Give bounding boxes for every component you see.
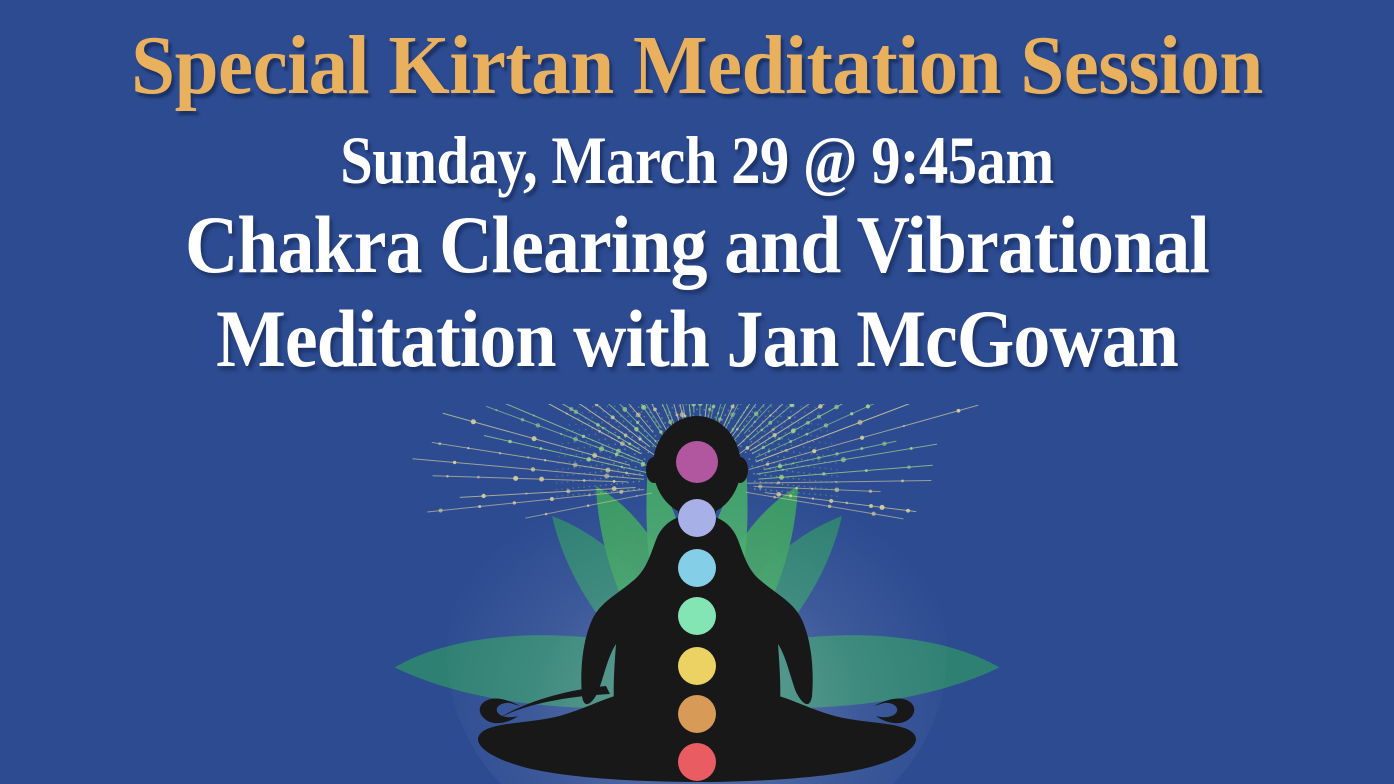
halo-dot: [804, 486, 806, 488]
halo-dot: [578, 493, 580, 495]
light-particle: [539, 447, 542, 450]
halo-dot: [754, 406, 756, 408]
halo-dot: [794, 427, 796, 429]
halo-dot: [758, 441, 760, 443]
light-particle: [822, 472, 825, 475]
halo-dot: [773, 462, 775, 464]
light-particle: [481, 494, 485, 498]
halo-dot: [760, 481, 762, 483]
light-particle: [569, 407, 573, 411]
light-ray: [764, 441, 897, 470]
halo-dot: [765, 442, 767, 444]
halo-dot: [751, 465, 753, 467]
light-particle: [592, 453, 597, 458]
halo-dot: [820, 430, 822, 432]
halo-dot: [600, 485, 602, 487]
halo-dot: [567, 494, 569, 496]
halo-dot: [600, 478, 602, 480]
halo-dot: [820, 494, 822, 496]
halo-dot: [562, 495, 564, 497]
sacral-chakra: [678, 695, 716, 733]
halo-dot: [580, 460, 582, 462]
halo-dot: [746, 421, 748, 423]
halo-dot: [825, 468, 827, 470]
halo-dot: [566, 448, 568, 450]
light-particle: [573, 463, 578, 468]
halo-dot: [769, 468, 771, 470]
halo-dot: [703, 409, 705, 411]
halo-dot: [775, 449, 777, 451]
halo-dot: [614, 432, 616, 434]
halo-dot: [771, 406, 773, 408]
light-particle: [439, 509, 443, 513]
halo-dot: [594, 492, 596, 494]
halo-dot: [799, 452, 801, 454]
halo-dot: [578, 473, 580, 475]
light-particle: [758, 485, 762, 489]
halo-dot: [753, 436, 755, 438]
halo-dot: [796, 464, 798, 466]
light-ray: [756, 404, 963, 462]
halo-dot: [646, 421, 648, 423]
light-particle: [768, 450, 771, 453]
light-particle: [624, 434, 628, 438]
halo-dot: [605, 416, 607, 418]
halo-dot: [567, 481, 569, 483]
halo-dot: [793, 451, 795, 453]
halo-dot: [604, 438, 606, 440]
light-ray: [752, 404, 880, 454]
halo-dot: [578, 407, 580, 409]
root-chakra: [678, 743, 716, 781]
halo-dot: [749, 430, 751, 432]
halo-dot: [825, 474, 827, 476]
light-particle: [760, 428, 763, 431]
halo-dot: [765, 482, 767, 484]
light-particle: [676, 414, 679, 417]
halo-dot: [772, 415, 774, 417]
halo-dot: [732, 430, 734, 432]
halo-dot: [602, 464, 604, 466]
halo-dot: [626, 426, 628, 428]
light-ray: [514, 404, 653, 432]
halo-dot: [831, 475, 833, 477]
halo-dot: [658, 413, 660, 415]
halo-dot: [566, 430, 568, 432]
light-particle: [621, 466, 624, 469]
halo-dot: [797, 445, 799, 447]
halo-dot: [775, 469, 777, 471]
halo-dot: [584, 466, 586, 468]
halo-dot: [810, 435, 812, 437]
halo-dot: [776, 490, 778, 492]
halo-dot: [570, 454, 572, 456]
light-particle: [513, 501, 516, 504]
halo-dot: [711, 410, 713, 412]
halo-dot: [622, 406, 624, 408]
halo-dot: [675, 412, 677, 414]
halo-dot: [770, 421, 772, 423]
lotus-meditation-illustration: [0, 404, 1394, 784]
halo-dot: [808, 466, 810, 468]
halo-dot: [595, 422, 597, 424]
halo-dot: [814, 429, 816, 431]
halo-dot: [817, 424, 819, 426]
light-particle: [860, 436, 864, 440]
light-particle: [566, 489, 570, 493]
halo-dot: [630, 406, 632, 408]
halo-dot: [809, 493, 811, 495]
halo-dot: [751, 441, 753, 443]
halo-dot: [572, 418, 574, 420]
light-ray: [444, 404, 640, 454]
halo-dot: [734, 413, 736, 415]
halo-dot: [588, 422, 590, 424]
halo-dot: [778, 406, 780, 408]
light-particle: [795, 487, 797, 489]
halo-dot: [627, 415, 629, 417]
halo-dot: [641, 452, 643, 454]
light-particle: [792, 462, 794, 464]
halo-dot: [835, 462, 837, 464]
halo-dot: [576, 435, 578, 437]
halo-dot: [798, 492, 800, 494]
light-particle: [544, 459, 546, 461]
light-particle: [587, 504, 590, 507]
halo-dot: [809, 473, 811, 475]
halo-dot: [728, 422, 730, 424]
halo-dot: [556, 495, 558, 497]
halo-dot: [809, 447, 811, 449]
halo-dot: [636, 430, 638, 432]
halo-dot: [748, 446, 750, 448]
halo-dot: [622, 482, 624, 484]
halo-dot: [801, 458, 803, 460]
halo-dot: [621, 455, 623, 457]
halo-dot: [832, 449, 834, 451]
halo-dot: [801, 417, 803, 419]
light-particle: [471, 419, 476, 424]
halo-dot: [746, 435, 748, 437]
halo-dot: [623, 421, 625, 423]
halo-dot: [740, 430, 742, 432]
halo-dot: [611, 450, 613, 452]
halo-dot: [582, 435, 584, 437]
halo-dot: [585, 406, 587, 408]
halo-dot: [831, 488, 833, 490]
halo-dot: [685, 404, 687, 406]
light-particle: [791, 429, 796, 434]
solar-plexus-chakra: [678, 647, 716, 685]
halo-dot: [786, 406, 788, 408]
halo-dot: [634, 453, 636, 455]
halo-dot: [767, 426, 769, 428]
light-particle: [866, 404, 870, 408]
halo-dot: [797, 471, 799, 473]
halo-dot: [774, 426, 776, 428]
halo-dot: [641, 425, 643, 427]
light-particle: [736, 428, 739, 431]
halo-dot: [655, 421, 657, 423]
halo-dot: [759, 474, 761, 476]
halo-dot: [818, 460, 820, 462]
halo-dot: [668, 414, 670, 416]
halo-dot: [775, 410, 777, 412]
light-particle: [869, 504, 873, 508]
halo-dot: [587, 452, 589, 454]
halo-dot: [764, 431, 766, 433]
halo-dot: [611, 491, 613, 493]
halo-dot: [825, 442, 827, 444]
halo-dot: [561, 475, 563, 477]
light-particle: [521, 418, 524, 421]
halo-dot: [591, 417, 593, 419]
throat-chakra: [678, 549, 716, 587]
light-particle: [527, 456, 529, 458]
halo-dot: [765, 415, 767, 417]
halo-dot: [804, 434, 806, 436]
halo-dot: [817, 412, 819, 414]
halo-dot: [734, 426, 736, 428]
halo-dot: [625, 461, 627, 463]
event-heading-line-2: Meditation with Jan McGowan: [70, 298, 1325, 380]
light-particle: [539, 477, 544, 482]
halo-dot: [661, 430, 663, 432]
halo-dot: [829, 436, 831, 438]
halo-dot: [707, 415, 709, 417]
halo-dot: [778, 432, 780, 434]
halo-dot: [803, 472, 805, 474]
halo-dot: [696, 409, 698, 411]
halo-dot: [792, 492, 794, 494]
halo-dot: [567, 474, 569, 476]
light-particle: [860, 447, 863, 450]
halo-dot: [573, 441, 575, 443]
halo-dot: [608, 421, 610, 423]
halo-dot: [589, 486, 591, 488]
halo-dot: [788, 438, 790, 440]
light-particle: [742, 429, 744, 431]
halo-dot: [615, 421, 617, 423]
halo-dot: [606, 406, 608, 408]
halo-dot: [755, 459, 757, 461]
halo-dot: [578, 480, 580, 482]
halo-dot: [578, 429, 580, 431]
halo-dot: [649, 412, 651, 414]
light-particle: [865, 469, 868, 472]
halo-dot: [761, 460, 763, 462]
light-particle: [477, 476, 480, 479]
halo-dot: [572, 430, 574, 432]
halo-dot: [805, 452, 807, 454]
halo-dot: [682, 410, 684, 412]
halo-dot: [594, 478, 596, 480]
light-particle: [598, 430, 601, 433]
halo-dot: [589, 492, 591, 494]
halo-dot: [754, 488, 756, 490]
halo-dot: [561, 488, 563, 490]
halo-dot: [820, 487, 822, 489]
light-particle: [599, 446, 604, 451]
halo-dot: [804, 479, 806, 481]
halo-dot: [591, 428, 593, 430]
halo-dot: [627, 454, 629, 456]
light-particle: [776, 492, 781, 497]
halo-dot: [611, 483, 613, 485]
halo-dot: [822, 454, 824, 456]
halo-dot: [811, 453, 813, 455]
halo-dot: [614, 406, 616, 408]
halo-dot: [564, 455, 566, 457]
halo-dot: [584, 493, 586, 495]
halo-dot: [780, 416, 782, 418]
halo-dot: [763, 467, 765, 469]
halo-dot: [671, 407, 673, 409]
halo-dot: [562, 443, 564, 445]
halo-dot: [816, 435, 818, 437]
halo-dot: [821, 448, 823, 450]
light-particle: [910, 447, 913, 450]
light-particle: [718, 417, 722, 421]
halo-dot: [556, 475, 558, 477]
halo-dot: [639, 436, 641, 438]
halo-dot: [791, 464, 793, 466]
halo-dot: [621, 431, 623, 433]
light-particle: [850, 412, 853, 415]
light-particle: [769, 415, 771, 417]
halo-dot: [569, 424, 571, 426]
halo-dot: [751, 425, 753, 427]
halo-dot: [748, 458, 750, 460]
halo-dot: [836, 495, 838, 497]
halo-dot: [791, 445, 793, 447]
light-particle: [841, 457, 846, 462]
halo-dot: [811, 423, 813, 425]
halo-dot: [618, 437, 620, 439]
halo-dot: [603, 457, 605, 459]
light-particle: [754, 412, 759, 417]
halo-dot: [591, 458, 593, 460]
light-particle: [602, 427, 605, 430]
light-particle: [478, 505, 481, 508]
halo-dot: [802, 465, 804, 467]
light-particle: [845, 502, 848, 505]
light-particle: [901, 479, 904, 482]
light-particle: [817, 415, 821, 419]
light-particle: [789, 494, 792, 497]
halo-dot: [745, 452, 747, 454]
light-particle: [778, 437, 781, 440]
halo-dot: [597, 458, 599, 460]
halo-dot: [560, 449, 562, 451]
light-particle: [835, 452, 839, 456]
halo-dot: [836, 469, 838, 471]
light-particle: [495, 409, 497, 411]
halo-dot: [568, 468, 570, 470]
halo-dot: [740, 404, 742, 405]
halo-dot: [633, 489, 635, 491]
halo-dot: [792, 471, 794, 473]
light-particle: [438, 442, 441, 445]
halo-dot: [583, 447, 585, 449]
halo-dot: [633, 474, 635, 476]
halo-dot: [556, 489, 558, 491]
halo-dot: [622, 490, 624, 492]
heart-chakra: [678, 597, 716, 635]
light-particle: [871, 512, 875, 516]
halo-dot: [807, 428, 809, 430]
light-particle: [869, 489, 872, 492]
halo-dot: [616, 483, 618, 485]
halo-dot: [829, 462, 831, 464]
halo-dot: [627, 489, 629, 491]
halo-dot: [754, 480, 756, 482]
halo-dot: [598, 416, 600, 418]
halo-dot: [600, 471, 602, 473]
halo-dot: [637, 447, 639, 449]
halo-dot: [807, 440, 809, 442]
halo-dot: [785, 432, 787, 434]
light-particle: [508, 440, 512, 444]
halo-dot: [785, 463, 787, 465]
halo-dot: [791, 422, 793, 424]
halo-dot: [815, 480, 817, 482]
halo-dot: [598, 427, 600, 429]
light-particle: [525, 492, 527, 494]
halo-dot: [614, 443, 616, 445]
halo-dot: [612, 416, 614, 418]
light-particle: [906, 509, 910, 513]
halo-dot: [586, 459, 588, 461]
halo-dot: [589, 472, 591, 474]
halo-dot: [783, 411, 785, 413]
halo-dot: [721, 419, 723, 421]
halo-dot: [652, 430, 654, 432]
halo-dot: [727, 410, 729, 412]
halo-dot: [618, 426, 620, 428]
halo-dot: [607, 463, 609, 465]
halo-dot: [798, 422, 800, 424]
halo-dot: [627, 482, 629, 484]
halo-dot: [836, 475, 838, 477]
halo-dot: [777, 456, 779, 458]
halo-dot: [777, 421, 779, 423]
light-particle: [773, 496, 776, 499]
halo-dot: [629, 467, 631, 469]
halo-dot: [814, 493, 816, 495]
halo-dot: [743, 425, 745, 427]
light-particle: [880, 505, 885, 510]
page-title: Special Kirtan Meditation Session: [42, 24, 1352, 108]
halo-dot: [757, 415, 759, 417]
halo-dot: [618, 449, 620, 451]
light-particle: [829, 499, 833, 503]
light-particle: [446, 475, 449, 478]
halo-dot: [605, 491, 607, 493]
halo-dot: [641, 411, 643, 413]
light-particle: [605, 467, 610, 472]
halo-dot: [800, 440, 802, 442]
halo-dot: [605, 450, 607, 452]
halo-dot: [787, 416, 789, 418]
halo-dot: [646, 407, 648, 409]
halo-dot: [601, 433, 603, 435]
halo-dot: [592, 440, 594, 442]
halo-dot: [624, 410, 626, 412]
halo-dot: [789, 457, 791, 459]
halo-dot: [783, 456, 785, 458]
halo-dot: [786, 470, 788, 472]
